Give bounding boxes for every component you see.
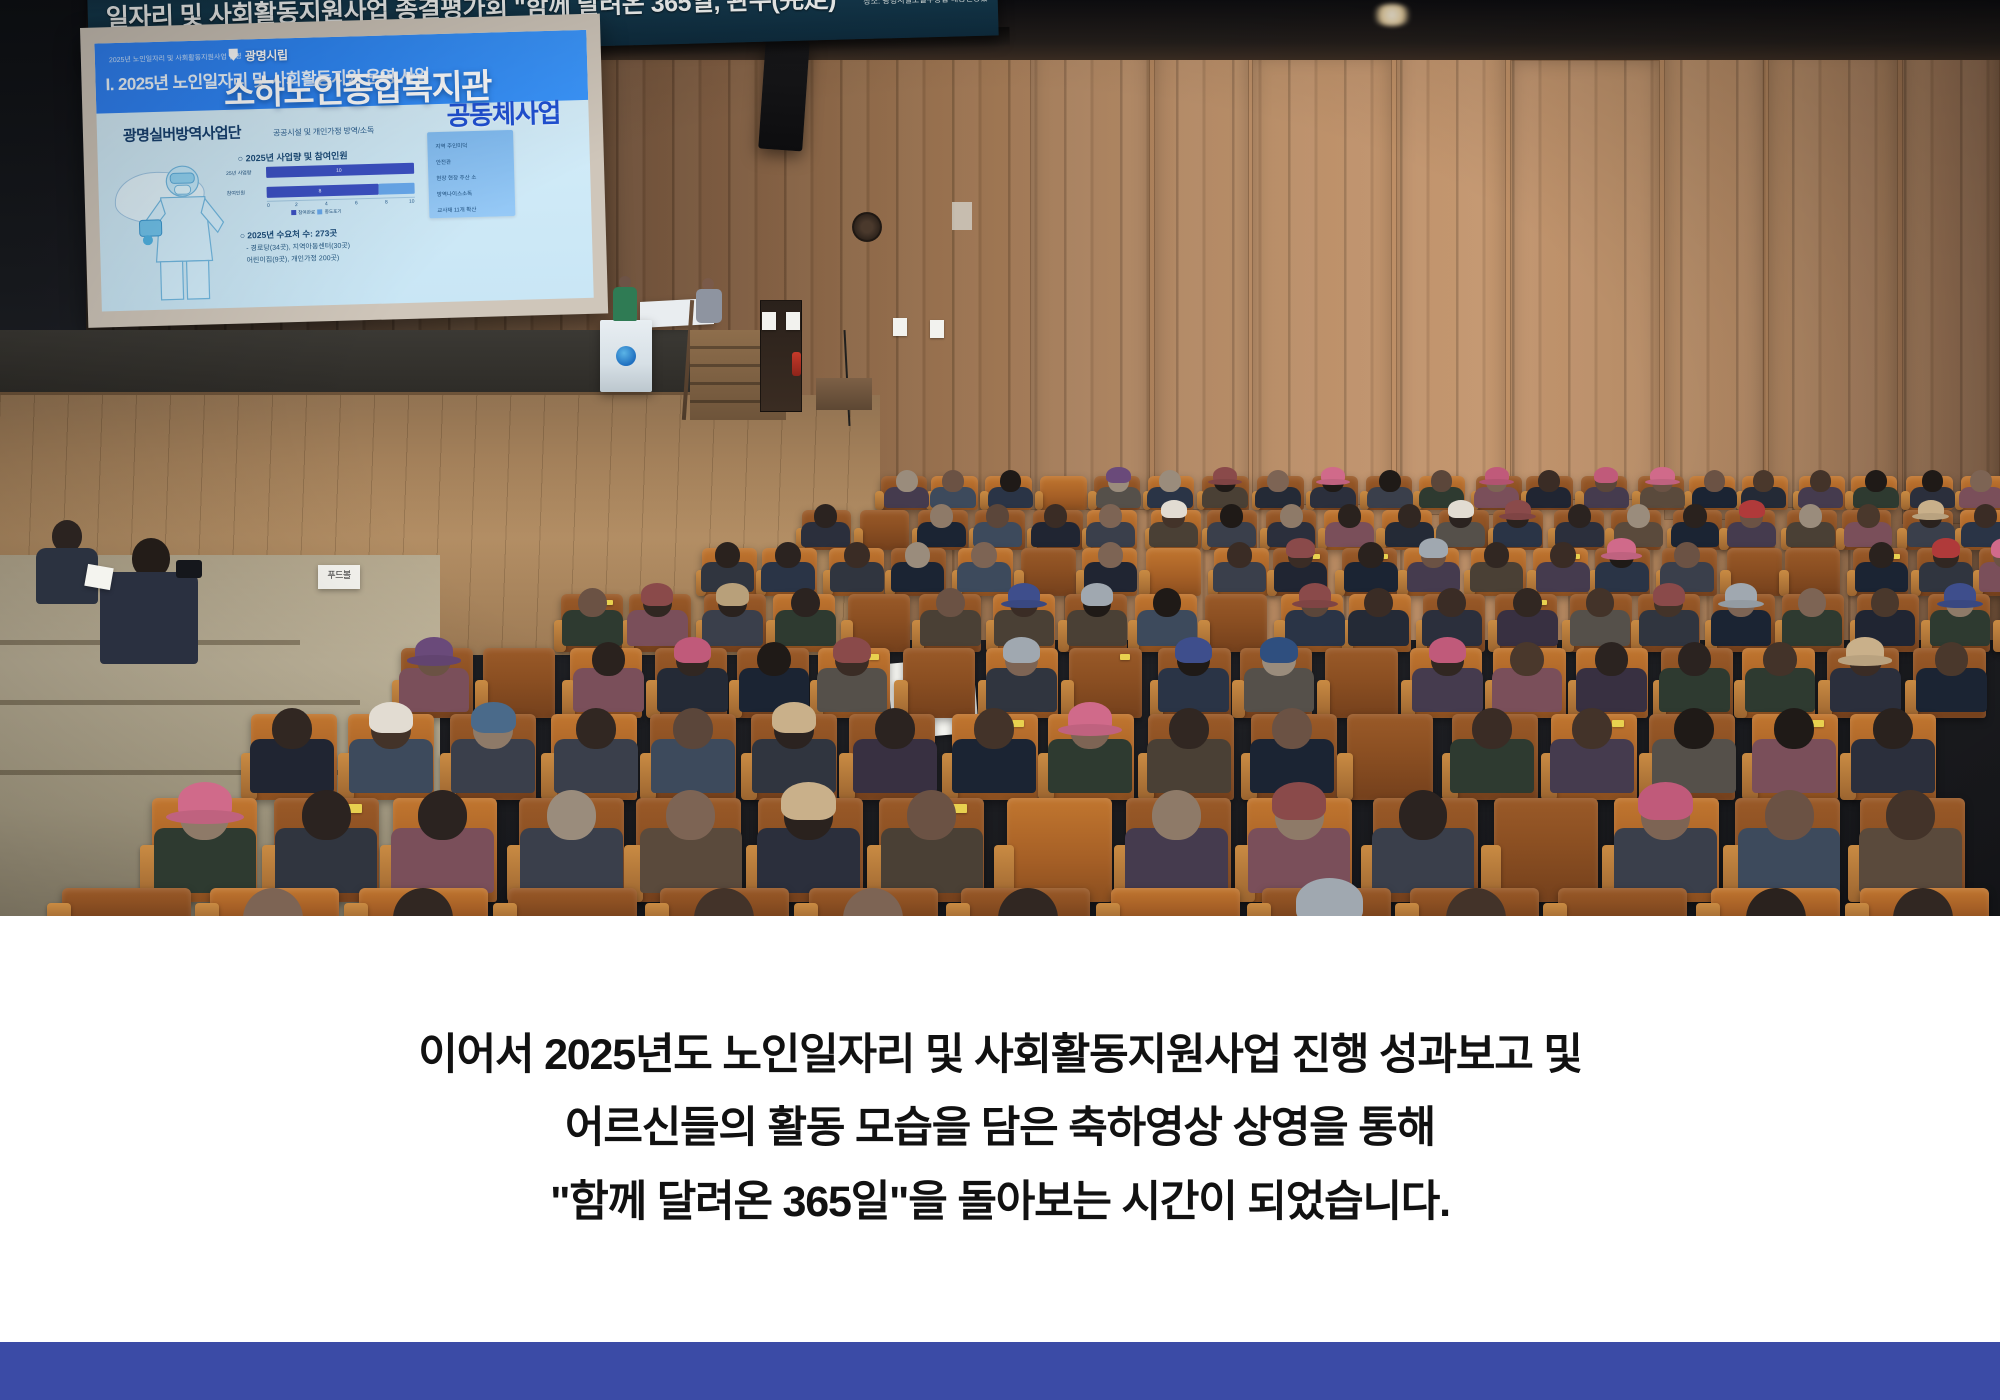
audience-member	[251, 708, 337, 800]
audience-member-hat	[1739, 500, 1765, 518]
audience-member-head	[814, 504, 837, 528]
audience-member-head	[1893, 888, 1953, 916]
audience-member	[650, 708, 736, 800]
audience-member	[849, 708, 935, 800]
shield-logo-icon	[228, 48, 239, 62]
audience-member-head	[1810, 470, 1832, 492]
slide-detail-2: 어린이집(9곳), 개인가정 200곳)	[246, 253, 339, 266]
audience-member-head	[1550, 542, 1576, 568]
side-panel-line-0: 지역 주인미덕	[435, 141, 467, 150]
audience-member-head	[1572, 708, 1612, 749]
audience-member-head	[1484, 542, 1510, 568]
audience-member-head	[1871, 588, 1900, 617]
audience-member	[655, 642, 727, 718]
audience-member	[1452, 708, 1538, 800]
audience-member-head	[1431, 470, 1453, 492]
audience-member-hat-brim	[407, 655, 461, 665]
audience-member-head	[896, 470, 918, 492]
projection-screen: 2025년 노인일자리 및 사회활동지원사업 운영 I. 2025년 노인일자리…	[80, 13, 608, 327]
chart-axis	[267, 197, 415, 202]
audience-member-head	[1153, 588, 1182, 617]
audience-member-head	[1159, 470, 1181, 492]
audience-member	[393, 790, 498, 902]
audience-member-head	[1678, 642, 1712, 676]
audience-member-head	[1513, 588, 1542, 617]
audience-member-hat	[1638, 782, 1693, 820]
audience-member-hat	[1296, 878, 1363, 916]
audience-member-head	[1398, 504, 1421, 528]
audience-member-hat	[471, 702, 516, 733]
audience-member-head	[1935, 642, 1969, 676]
audience-member	[450, 708, 536, 800]
slide-bullet-2: ○ 2025년 수요처 수: 273곳	[240, 227, 338, 242]
slide-header-small: 2025년 노인일자리 및 사회활동지원사업 운영	[109, 51, 242, 65]
audience-member-head	[1227, 542, 1253, 568]
slide-section-subtitle: 공공시설 및 개인가정 방역/소독	[273, 125, 374, 139]
audience-member-head	[1763, 642, 1797, 676]
audience-member	[1860, 790, 1965, 902]
side-panel-line-3: 방역나이스소독	[437, 189, 473, 198]
seat-number-tag	[1120, 654, 1130, 660]
audience-member-hat-brim	[1912, 513, 1949, 520]
audience-member-hat	[1106, 467, 1130, 484]
podium	[600, 320, 652, 392]
audience-member-head	[986, 504, 1009, 528]
audience-member-hat	[1081, 583, 1113, 605]
audience-member-hat	[1419, 538, 1448, 558]
audience-member-head	[1280, 504, 1303, 528]
chart-value-1: 8	[319, 188, 322, 194]
audience-member-head	[1753, 470, 1775, 492]
audience-member-head	[1338, 504, 1361, 528]
audience-member-head	[942, 470, 964, 492]
chart-category-1: 참여인원	[227, 189, 246, 197]
audience-member	[1711, 888, 1840, 916]
audience-member-head	[775, 542, 801, 568]
seat-armrest	[1096, 903, 1120, 916]
slide-side-panel: 지역 주인미덕 안전관 현장 현장 주산 소 방역나이스소독 교사재 11개 확…	[427, 130, 515, 218]
slide-section-title: 광명실버방역사업단	[123, 122, 241, 146]
audience-member-head	[576, 708, 616, 749]
line-array-speaker	[758, 39, 810, 152]
audience-member	[1827, 642, 1899, 718]
seat-armrest	[1543, 903, 1567, 916]
audience-member-head	[1364, 588, 1393, 617]
audience-member-head	[1746, 888, 1806, 916]
slide-logo-small: 광명시립	[245, 46, 288, 64]
side-panel-line-2: 현장 현장 주산 소	[436, 173, 476, 182]
wall-plate	[952, 202, 972, 230]
audience-row	[0, 790, 2000, 902]
presenter-body	[613, 287, 637, 321]
audience-member-hat	[772, 702, 817, 733]
audience-member	[1048, 708, 1134, 800]
audience-member-head	[1538, 470, 1560, 492]
ceiling-light	[1370, 4, 1414, 26]
audience-member	[758, 790, 863, 902]
wall-notice-sign	[893, 318, 907, 336]
audience-member-head	[1379, 470, 1401, 492]
audience-member-head	[578, 588, 607, 617]
audience-member-hat	[1932, 538, 1961, 558]
audience-member-head	[1674, 542, 1700, 568]
audience-member-head	[1399, 790, 1448, 840]
disinfection-worker-illustration	[134, 160, 234, 303]
banner-meta: 일시: 2025. 12. 10(수) ~ 12. 11(목) 14:00~15…	[862, 0, 987, 8]
side-panel-line-1: 안전관	[436, 158, 451, 166]
audience-member-head	[1869, 542, 1895, 568]
audience-member-hat-brim	[1937, 600, 1983, 609]
audience-member-head	[875, 708, 915, 749]
audience-member-head	[1446, 888, 1506, 916]
audience-member	[1661, 642, 1733, 718]
audience-member-head	[1627, 504, 1650, 528]
audience-row	[0, 642, 2000, 718]
audience-member-hat	[1260, 637, 1298, 663]
podium-logo-icon	[616, 346, 636, 366]
audience-member	[348, 708, 434, 800]
audience-member-hat-brim	[1718, 600, 1764, 609]
audience-member-head	[791, 588, 820, 617]
audience-member-head	[1000, 470, 1022, 492]
audience-row	[0, 888, 2000, 916]
audience-member	[1410, 888, 1539, 916]
audience-member-head	[1873, 708, 1913, 749]
audience-member-hat	[641, 583, 673, 605]
audience-member	[1126, 790, 1231, 902]
auditorium-seat	[1111, 888, 1240, 916]
audience-member-hat	[1161, 500, 1187, 518]
seat-armrest	[493, 903, 517, 916]
audience-member-hat	[1594, 467, 1618, 484]
audience-member-hat-brim	[1001, 600, 1047, 609]
audience-member-head	[1169, 708, 1209, 749]
audience-member	[1551, 708, 1637, 800]
audience-member-head	[1774, 708, 1814, 749]
banner-place: 장소: 광명시별소별수통합 대공연장홌	[863, 0, 988, 8]
chart-tick-0: 0	[267, 203, 270, 209]
audience-member-hat-brim	[1499, 513, 1536, 520]
audience-member-hat	[369, 702, 414, 733]
side-panel-line-4: 교사재 11개 확산	[437, 205, 476, 214]
audience-member-head	[1267, 470, 1289, 492]
audience-member	[152, 790, 257, 902]
presenter	[612, 276, 638, 326]
slide-bullet-1: ○ 2025년 사업량 및 참여인원	[238, 149, 348, 165]
audience-member-hat	[1003, 637, 1041, 663]
audience-member-hat	[1175, 637, 1213, 663]
audience-member-head	[1595, 642, 1629, 676]
audience-member-head	[592, 642, 626, 676]
audience-member-hat	[1653, 583, 1685, 605]
audience-member-head	[1472, 708, 1512, 749]
audience-member-head	[844, 542, 870, 568]
audience-member	[660, 888, 789, 916]
caption-line-1: 이어서 2025년도 노인일자리 및 사회활동지원사업 진행 성과보고 및	[418, 1024, 1581, 1088]
event-photo: 일자리 및 사회활동지원사업 종결평가회 "함께 달려온 365일, 완주(完走…	[0, 0, 2000, 916]
audience-member-hat-brim	[1208, 479, 1243, 485]
audience-member-head	[1568, 504, 1591, 528]
audience-member	[879, 790, 984, 902]
audience-member-hat	[716, 583, 748, 605]
audience-member	[986, 642, 1058, 718]
chart-bar-1	[267, 184, 379, 198]
audience-member	[1913, 642, 1985, 718]
audience-member	[401, 642, 473, 718]
audience-member	[1860, 888, 1989, 916]
legend-swatch-0	[291, 210, 296, 215]
audience-member-head	[1437, 588, 1466, 617]
auditorium-seat	[508, 888, 637, 916]
audience-member	[1742, 642, 1814, 718]
chart-tick-3: 6	[355, 200, 358, 206]
slide-bar-chart: 25년 사업량 10 참여인원 8 0 2 4 6 8 10 참여완료	[266, 163, 415, 215]
audience-row	[0, 708, 2000, 800]
audience-member-head	[907, 790, 956, 840]
crouching-attendee-notebook	[84, 564, 113, 590]
audience-member	[952, 708, 1038, 800]
footer-color-bar	[0, 1342, 2000, 1400]
audience-member-head	[666, 790, 715, 840]
audience-member-hat	[1272, 782, 1327, 820]
audience-member	[818, 642, 890, 718]
audience-member-hat	[833, 637, 871, 663]
audience-member	[1752, 708, 1838, 800]
auditorium-seat	[1558, 888, 1687, 916]
audience-member	[636, 790, 741, 902]
audience-member-hat-brim	[1601, 552, 1642, 560]
audience-member-head	[1099, 504, 1122, 528]
legend-swatch-1	[318, 210, 323, 215]
presentation-slide: 2025년 노인일자리 및 사회활동지원사업 운영 I. 2025년 노인일자리…	[94, 30, 593, 312]
audience-member-head	[1798, 588, 1827, 617]
slide-logo-tail: 공동체사업	[446, 93, 561, 133]
audience-member	[1410, 642, 1482, 718]
audience-member-head	[1220, 504, 1243, 528]
audience-member-hat	[781, 782, 836, 820]
audience-member-head	[1152, 790, 1201, 840]
audience-member-hat-brim	[1292, 600, 1338, 609]
audience-member-head	[418, 790, 467, 840]
crouching-attendee	[30, 520, 120, 640]
caption-line-2: 어르신들의 활동 모습을 담은 축하영상 상영을 통해	[565, 1097, 1435, 1161]
audience-member-head	[1799, 504, 1822, 528]
audience-member-head	[694, 888, 754, 916]
auditorium-seat	[62, 888, 191, 916]
audience-member	[359, 888, 488, 916]
audience-member-hat-brim	[1479, 479, 1514, 485]
audience-member-hat-brim	[1316, 479, 1351, 485]
audience-member	[210, 888, 339, 916]
photo-card-page: 일자리 및 사회활동지원사업 종결평가회 "함께 달려온 365일, 완주(完走…	[0, 0, 2000, 1400]
wall-vent	[852, 212, 882, 242]
auditorium-seat	[1347, 714, 1433, 800]
audience-member-head	[936, 588, 965, 617]
audience-member-head	[998, 888, 1058, 916]
audience-member-hat-brim	[1645, 479, 1680, 485]
audience-member-head	[715, 542, 741, 568]
audience-member-head	[1683, 504, 1706, 528]
audience-member	[1850, 708, 1936, 800]
chart-tick-5: 10	[409, 199, 415, 205]
chart-value-0: 10	[336, 168, 342, 174]
caption-line-3: "함께 달려온 365일"을 돌아보는 시간이 되었습니다.	[550, 1171, 1450, 1235]
audience-member	[1576, 642, 1648, 718]
audience-member	[1493, 642, 1565, 718]
audience-member-head	[1765, 790, 1814, 840]
audience-member-head	[393, 888, 453, 916]
audience-member-hat	[1429, 637, 1467, 663]
audience-member-head	[974, 708, 1014, 749]
audience-member-head	[1044, 504, 1067, 528]
audience-member	[1148, 708, 1234, 800]
audience-member-head	[1272, 708, 1312, 749]
audience-member-head	[1586, 588, 1615, 617]
audience-member-hat-brim	[166, 810, 244, 825]
chart-tick-1: 2	[295, 202, 298, 208]
audience-member-head	[1510, 642, 1544, 676]
audience-member-head	[1886, 790, 1935, 840]
audience-member-head	[757, 642, 791, 676]
audience-member-hat	[1286, 538, 1315, 558]
camera-icon	[176, 560, 202, 578]
wall-notice-sign	[930, 320, 944, 338]
auditorium-seat	[1007, 798, 1112, 902]
wall-notice-sign	[762, 312, 776, 330]
audience-member-head	[1970, 470, 1992, 492]
audience-member-head	[673, 708, 713, 749]
audience-member	[274, 790, 379, 902]
audience-member	[1614, 790, 1719, 902]
chart-category-0: 25년 사업량	[226, 169, 252, 177]
audience-member	[1262, 888, 1391, 916]
audience-member-head	[243, 888, 303, 916]
audience-member-hat-brim	[1058, 724, 1122, 736]
audience-member	[1373, 790, 1478, 902]
audience-member	[1735, 790, 1840, 902]
caption-block: 이어서 2025년도 노인일자리 및 사회활동지원사업 진행 성과보고 및 어르…	[0, 916, 2000, 1342]
seated-staff-body	[696, 289, 722, 323]
audience-member	[961, 888, 1090, 916]
audience-member-head	[1358, 542, 1384, 568]
fire-extinguisher	[792, 352, 801, 376]
audience-member-head	[905, 542, 931, 568]
audience-member	[1158, 642, 1230, 718]
audience-member-head	[843, 888, 903, 916]
audience-member	[519, 790, 624, 902]
legend-label-1: 중도포기	[325, 209, 342, 214]
audience-member-head	[1674, 708, 1714, 749]
auditorium-seat	[1494, 798, 1599, 902]
chart-legend: 참여완료 중도포기	[291, 209, 342, 216]
seat-armrest	[47, 903, 71, 916]
audience-member-head	[1865, 470, 1887, 492]
stage-equipment-box	[816, 378, 872, 410]
chart-tick-2: 4	[325, 201, 328, 207]
slide-detail-1: - 경로당(34곳), 지역아동센터(30곳)	[246, 241, 350, 254]
audience-member-head	[547, 790, 596, 840]
audience-member	[1240, 642, 1312, 718]
audience-member-head	[1974, 504, 1997, 528]
seated-staff	[696, 278, 722, 324]
audience-member-head	[971, 542, 997, 568]
audience-member-head	[1922, 470, 1944, 492]
audience-member-head	[1098, 542, 1124, 568]
audience-seating	[0, 470, 2000, 916]
audience-member-head	[302, 790, 351, 840]
audience-member	[570, 642, 642, 718]
chart-tick-4: 8	[385, 199, 388, 205]
audience-member-hat	[674, 637, 712, 663]
audience-member	[551, 708, 637, 800]
wall-notice-sign	[786, 312, 800, 330]
chart-bar-1-secondary	[378, 183, 414, 195]
audience-member	[809, 888, 938, 916]
legend-label-0: 참여완료	[298, 210, 315, 215]
audience-member-head	[1857, 504, 1880, 528]
audience-member-head	[1704, 470, 1726, 492]
audience-member-hat	[1448, 500, 1474, 518]
audience-member-head	[930, 504, 953, 528]
audience-member-hat-brim	[1838, 655, 1892, 665]
audience-member-head	[272, 708, 312, 749]
